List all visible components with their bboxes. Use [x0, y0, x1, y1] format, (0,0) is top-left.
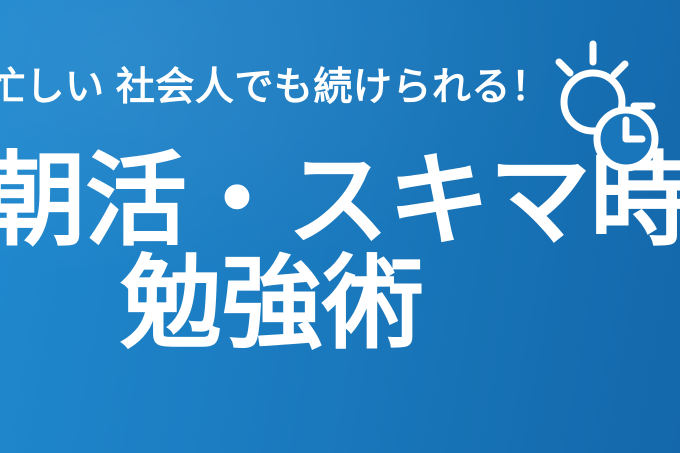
banner-subtitle: 忙しい 社会人でも続けられる！ — [0, 68, 566, 107]
promo-banner: 忙しい 社会人でも続けられる！ 朝活・スキマ時間 勉強術 — [0, 0, 680, 453]
banner-title-line-2: 勉強術 — [120, 253, 423, 355]
sun-clock-icon — [549, 40, 673, 180]
sun-ray-upper-left — [559, 62, 570, 73]
sun-ray-upper-right — [614, 64, 625, 75]
